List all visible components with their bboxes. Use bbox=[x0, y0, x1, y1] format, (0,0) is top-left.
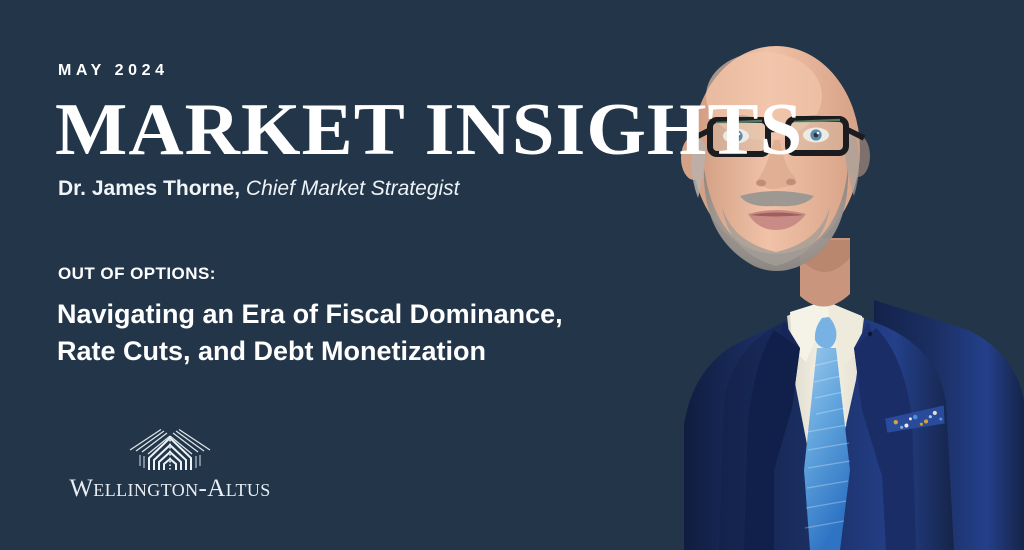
article-subtitle: Navigating an Era of Fiscal Dominance, R… bbox=[57, 296, 657, 370]
author-role: Chief Market Strategist bbox=[246, 177, 460, 200]
issue-date: MAY 2024 bbox=[58, 62, 169, 80]
wellington-altus-chevron-icon bbox=[118, 428, 222, 472]
portrait-image bbox=[624, 0, 1024, 550]
article-subtitle-line-2: Rate Cuts, and Debt Monetization bbox=[57, 333, 657, 370]
brand-logo: Wellington-Altus bbox=[57, 428, 283, 503]
market-insights-banner: MAY 2024 MARKET INSIGHTS Dr. James Thorn… bbox=[0, 0, 1024, 550]
byline: Dr. James Thorne, Chief Market Strategis… bbox=[58, 177, 460, 201]
text-column: MAY 2024 MARKET INSIGHTS Dr. James Thorn… bbox=[0, 0, 660, 550]
article-kicker: OUT OF OPTIONS: bbox=[58, 264, 216, 284]
page-title: MARKET INSIGHTS bbox=[55, 93, 803, 167]
author-name: Dr. James Thorne, bbox=[58, 177, 240, 200]
brand-wordmark: Wellington-Altus bbox=[57, 475, 283, 503]
article-subtitle-line-1: Navigating an Era of Fiscal Dominance, bbox=[57, 296, 657, 333]
